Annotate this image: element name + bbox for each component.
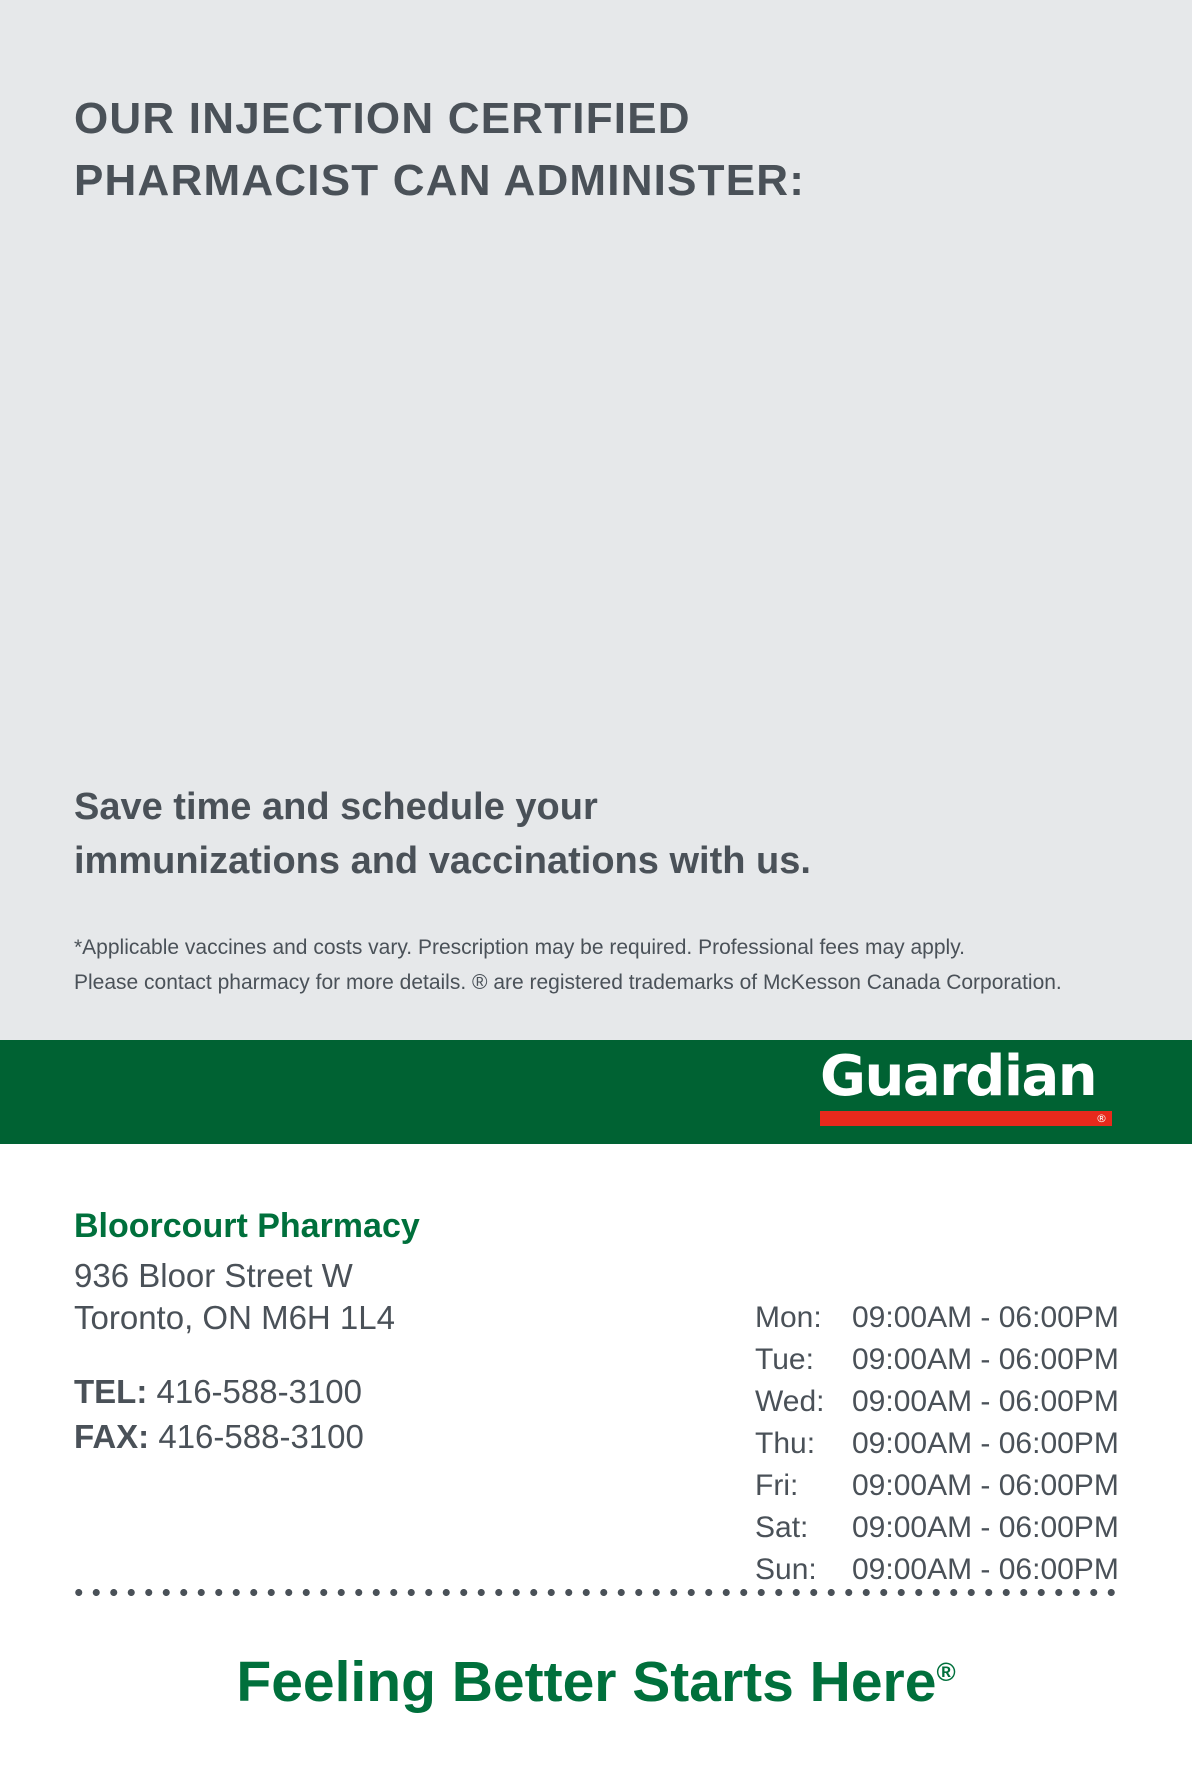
subheadline: Save time and schedule your immunization… xyxy=(74,780,974,888)
hours-row: Sun: 09:00AM - 06:00PM xyxy=(755,1549,1155,1591)
hours-row: Tue: 09:00AM - 06:00PM xyxy=(755,1339,1155,1381)
store-fax: FAX: 416-588-3100 xyxy=(74,1414,674,1459)
store-contact-info: TEL: 416-588-3100 FAX: 416-588-3100 xyxy=(74,1369,674,1459)
subheadline-line-1: Save time and schedule your xyxy=(74,780,974,834)
disclaimer-text: *Applicable vaccines and costs vary. Pre… xyxy=(74,930,1134,1000)
registered-trademark-icon: ® xyxy=(1096,1112,1107,1125)
dotted-divider xyxy=(70,1588,1125,1597)
store-address: 936 Bloor Street W Toronto, ON M6H 1L4 xyxy=(74,1255,674,1339)
headline-line-2: PHARMACIST CAN ADMINISTER: xyxy=(74,150,974,212)
hours-row: Mon: 09:00AM - 06:00PM xyxy=(755,1297,1155,1339)
hours-day-label: Thu: xyxy=(755,1423,852,1465)
hours-day-label: Wed: xyxy=(755,1381,852,1423)
hours-time-value: 09:00AM - 06:00PM xyxy=(852,1339,1155,1381)
brand-tagline: Feeling Better Starts Here® xyxy=(0,1645,1192,1719)
store-name: Bloorcourt Pharmacy xyxy=(74,1203,674,1249)
hours-time-value: 09:00AM - 06:00PM xyxy=(852,1423,1155,1465)
guardian-logo: Guardian ® xyxy=(820,1046,1115,1126)
telephone-value[interactable]: 416-588-3100 xyxy=(157,1373,363,1410)
poster-top-panel: OUR INJECTION CERTIFIED PHARMACIST CAN A… xyxy=(0,0,1192,1040)
page-title: OUR INJECTION CERTIFIED PHARMACIST CAN A… xyxy=(74,88,974,212)
disclaimer-line-2: Please contact pharmacy for more details… xyxy=(74,965,1134,1000)
hours-day-label: Sun: xyxy=(755,1549,852,1591)
hours-time-value: 09:00AM - 06:00PM xyxy=(852,1465,1155,1507)
fax-label: FAX: xyxy=(74,1418,149,1455)
hours-time-value: 09:00AM - 06:00PM xyxy=(852,1507,1155,1549)
disclaimer-line-1: *Applicable vaccines and costs vary. Pre… xyxy=(74,930,1134,965)
store-address-line-2: Toronto, ON M6H 1L4 xyxy=(74,1297,674,1339)
subheadline-line-2: immunizations and vaccinations with us. xyxy=(74,834,974,888)
hours-day-label: Mon: xyxy=(755,1297,852,1339)
store-details: Bloorcourt Pharmacy 936 Bloor Street W T… xyxy=(74,1203,674,1459)
hours-time-value: 09:00AM - 06:00PM xyxy=(852,1297,1155,1339)
store-hours-table: Mon: 09:00AM - 06:00PM Tue: 09:00AM - 06… xyxy=(755,1297,1155,1591)
hours-row: Fri: 09:00AM - 06:00PM xyxy=(755,1465,1155,1507)
hours-row: Wed: 09:00AM - 06:00PM xyxy=(755,1381,1155,1423)
hours-time-value: 09:00AM - 06:00PM xyxy=(852,1381,1155,1423)
hours-day-label: Sat: xyxy=(755,1507,852,1549)
hours-day-label: Fri: xyxy=(755,1465,852,1507)
hours-time-value: 09:00AM - 06:00PM xyxy=(852,1549,1155,1591)
guardian-wordmark: Guardian xyxy=(820,1046,1115,1108)
store-telephone: TEL: 416-588-3100 xyxy=(74,1369,674,1414)
guardian-logo-underline-bar: ® xyxy=(820,1111,1112,1126)
hours-day-label: Tue: xyxy=(755,1339,852,1381)
store-address-line-1: 936 Bloor Street W xyxy=(74,1255,674,1297)
fax-value: 416-588-3100 xyxy=(158,1418,364,1455)
hours-row: Thu: 09:00AM - 06:00PM xyxy=(755,1423,1155,1465)
tagline-text: Feeling Better Starts Here xyxy=(236,1650,936,1714)
headline-line-1: OUR INJECTION CERTIFIED xyxy=(74,88,974,150)
telephone-label: TEL: xyxy=(74,1373,147,1410)
tagline-registered-trademark-icon: ® xyxy=(936,1657,955,1687)
hours-row: Sat: 09:00AM - 06:00PM xyxy=(755,1507,1155,1549)
